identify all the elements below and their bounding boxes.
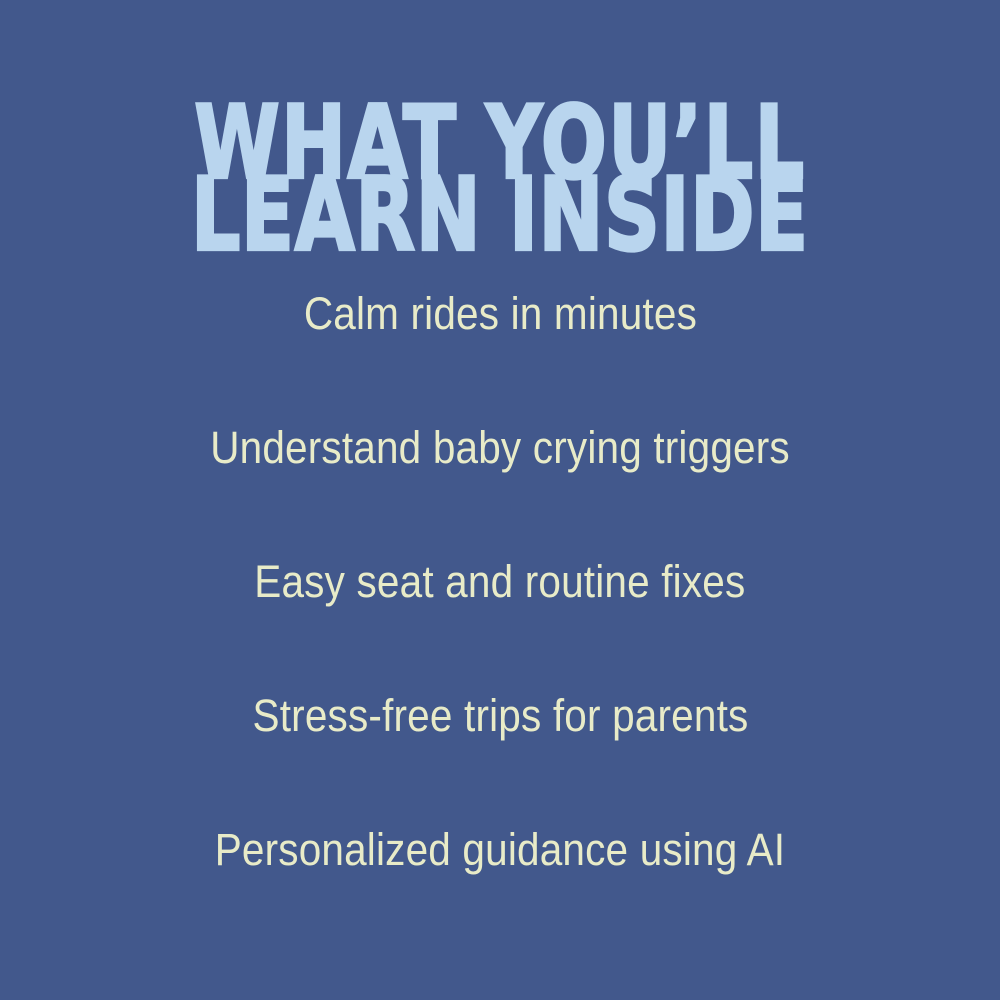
- page-title: WHAT YOU’LL LEARN INSIDE: [0, 104, 1000, 248]
- feature-label: Calm rides in minutes: [303, 285, 696, 343]
- promo-slide: WHAT YOU’LL LEARN INSIDE Calm rides in m…: [0, 0, 1000, 1000]
- feature-label: Understand baby crying triggers: [210, 419, 790, 477]
- list-item: Calm rides in minutes: [0, 285, 1000, 419]
- feature-label: Easy seat and routine fixes: [254, 553, 745, 611]
- list-item: Stress-free trips for parents: [0, 687, 1000, 821]
- feature-label: Personalized guidance using AI: [215, 821, 786, 879]
- feature-label: Stress-free trips for parents: [252, 687, 748, 745]
- list-item: Personalized guidance using AI: [0, 821, 1000, 955]
- list-item: Understand baby crying triggers: [0, 419, 1000, 553]
- list-item: Easy seat and routine fixes: [0, 553, 1000, 687]
- feature-list: Calm rides in minutes Understand baby cr…: [0, 285, 1000, 955]
- headline-line-2: LEARN INSIDE: [80, 176, 920, 255]
